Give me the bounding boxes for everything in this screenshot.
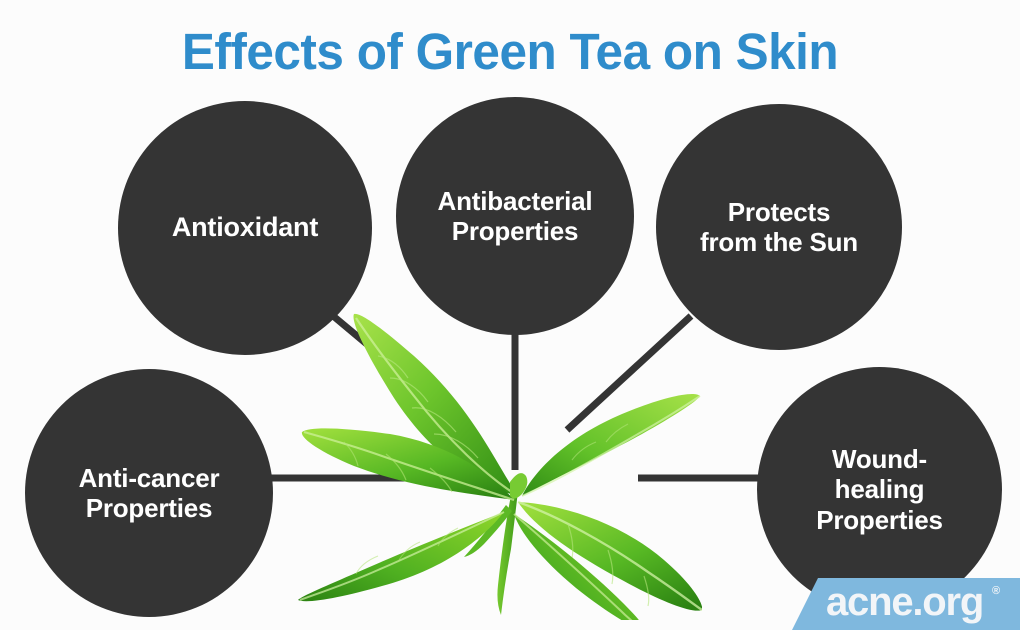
bubble-protects-from-sun-label: Protectsfrom the Sun — [686, 197, 872, 258]
bubble-anti-cancer[interactable]: Anti-cancerProperties — [25, 369, 273, 617]
bubble-wound-healing-label: Wound-healingProperties — [802, 444, 957, 535]
acne-org-wordmark: acne.org — [826, 580, 983, 625]
green-tea-leaves — [282, 300, 702, 620]
leaf-lower-left — [298, 512, 504, 601]
bubble-antioxidant-label: Antioxidant — [158, 212, 332, 244]
page-title: Effects of Green Tea on Skin — [15, 22, 1004, 81]
leaf-upper-right — [522, 394, 700, 496]
acne-org-badge[interactable]: acne.org ® — [792, 578, 1020, 630]
bubble-wound-healing[interactable]: Wound-healingProperties — [757, 367, 1002, 612]
bubble-antibacterial[interactable]: AntibacterialProperties — [396, 97, 634, 335]
registered-trademark-icon: ® — [992, 585, 1000, 597]
infographic-canvas: Effects of Green Tea on Skin — [0, 0, 1020, 630]
bubble-antibacterial-label: AntibacterialProperties — [424, 186, 607, 247]
bubble-protects-from-sun[interactable]: Protectsfrom the Sun — [656, 104, 902, 350]
bubble-anti-cancer-label: Anti-cancerProperties — [65, 463, 234, 524]
bubble-antioxidant[interactable]: Antioxidant — [118, 101, 372, 355]
